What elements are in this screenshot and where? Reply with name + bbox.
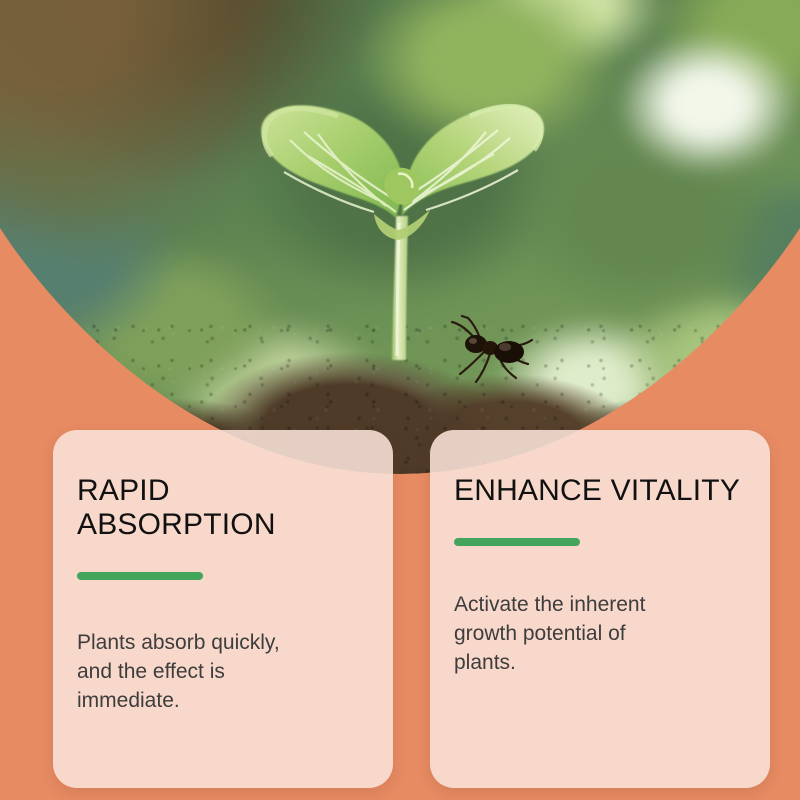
accent-rule xyxy=(454,538,580,546)
card-title: RAPID ABSORPTION xyxy=(77,474,369,542)
ant-icon xyxy=(424,312,544,392)
feature-card-rapid-absorption[interactable]: RAPID ABSORPTION Plants absorb quickly, … xyxy=(53,430,393,788)
poster-root: RAPID ABSORPTION Plants absorb quickly, … xyxy=(0,0,800,800)
accent-rule xyxy=(77,572,203,580)
card-title: ENHANCE VITALITY xyxy=(454,474,746,508)
feature-card-enhance-vitality[interactable]: ENHANCE VITALITY Activate the inherent g… xyxy=(430,430,770,788)
hero-photo xyxy=(0,0,800,474)
feature-card-list: RAPID ABSORPTION Plants absorb quickly, … xyxy=(53,430,770,788)
card-body-text: Activate the inherent growth potential o… xyxy=(454,590,746,677)
card-body-text: Plants absorb quickly, and the effect is… xyxy=(77,628,369,715)
